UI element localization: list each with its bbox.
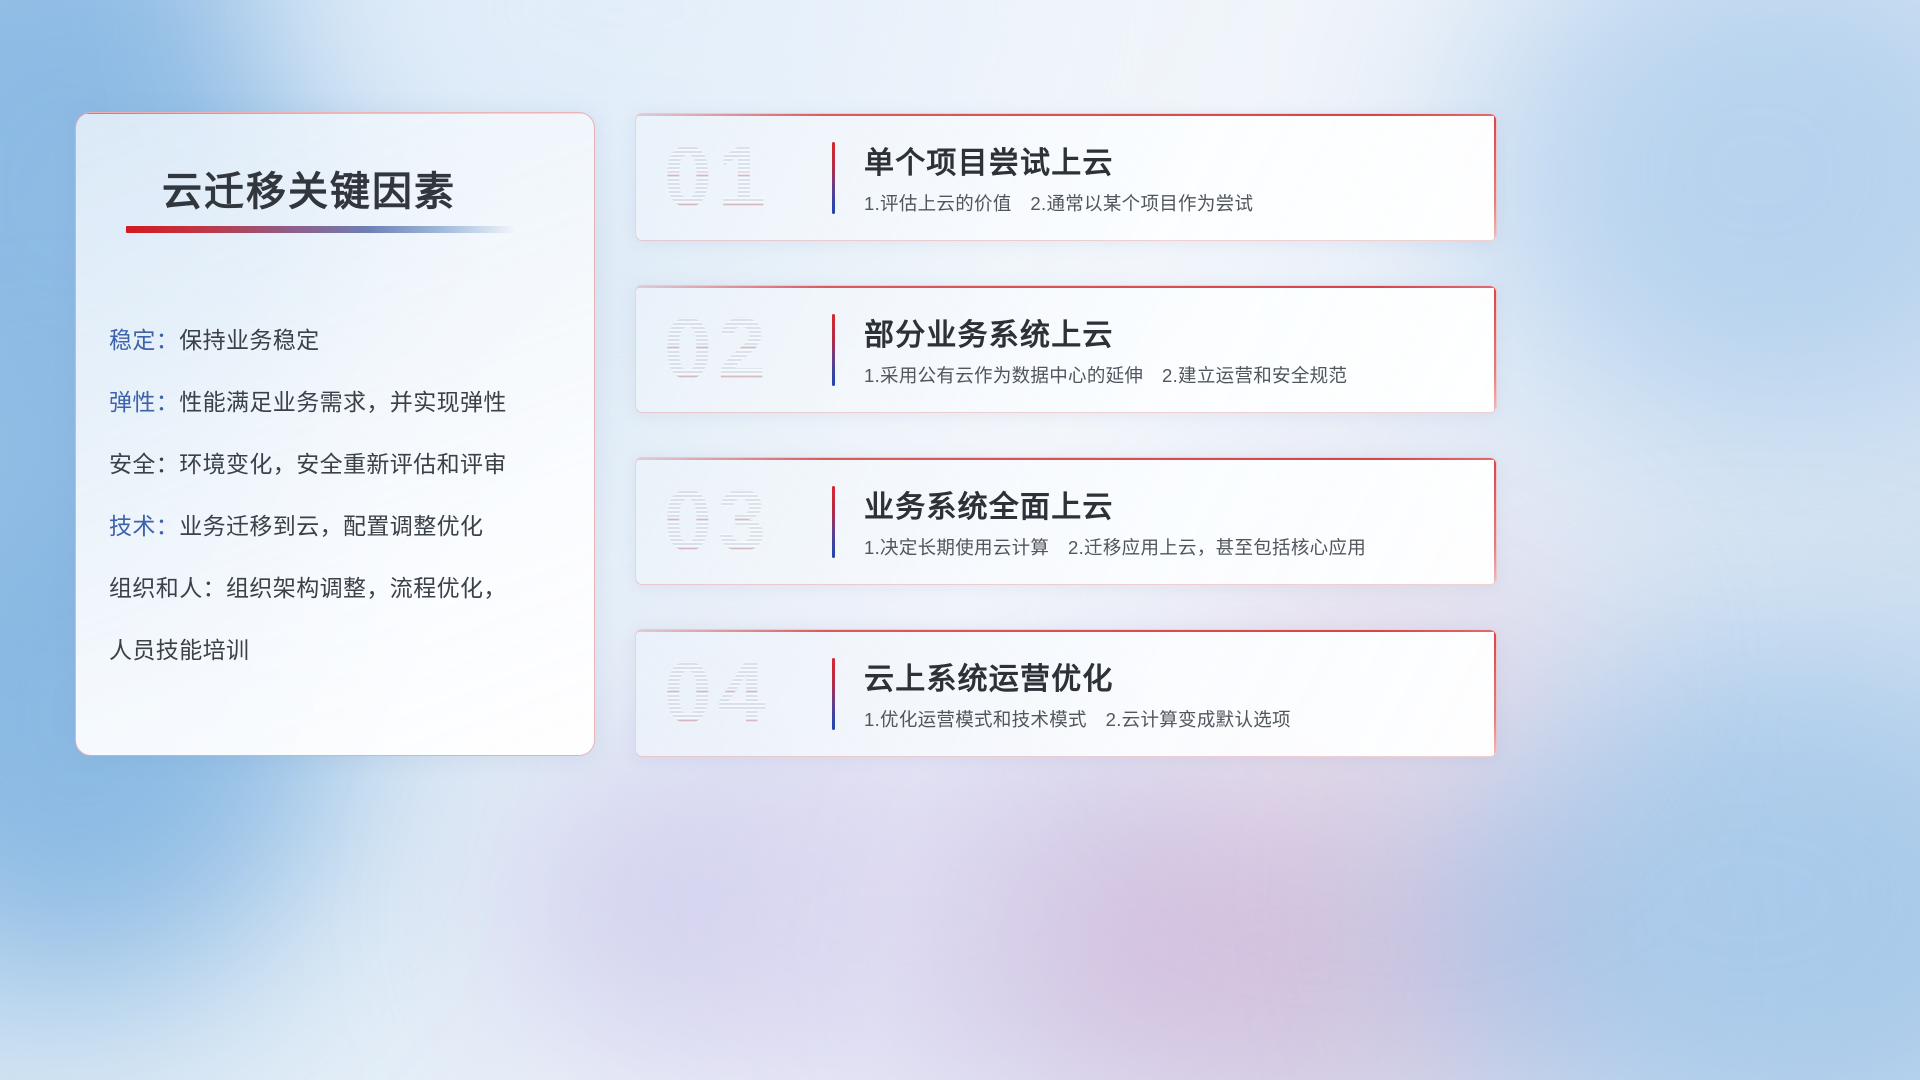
step-description: 1.决定长期使用云计算 2.迁移应用上云，甚至包括核心应用 [864, 534, 1366, 560]
key-factor-row: 人员技能培训 [109, 619, 579, 681]
step-title: 业务系统全面上云 [864, 482, 1114, 526]
step-title: 单个项目尝试上云 [864, 138, 1114, 182]
key-factor-value: 业务迁移到云，配置调整优化 [179, 513, 483, 539]
key-factors-list: 稳定：保持业务稳定弹性：性能满足业务需求，并实现弹性安全：环境变化，安全重新评估… [109, 309, 579, 681]
step-number-watermark: 01 [664, 131, 834, 223]
key-factor-label: 组织和人： [109, 575, 226, 601]
key-factor-row: 技术：业务迁移到云，配置调整优化 [109, 495, 579, 557]
step-description: 1.优化运营模式和技术模式 2.云计算变成默认选项 [864, 706, 1291, 732]
title-underline-rule [126, 226, 516, 233]
step-accent-divider [832, 658, 835, 730]
key-factor-label: 技术： [109, 513, 179, 539]
slide-stage: 云迁移关键因素 稳定：保持业务稳定弹性：性能满足业务需求，并实现弹性安全：环境变… [0, 0, 1920, 1080]
key-factor-label: 稳定： [109, 327, 179, 353]
key-factor-row: 安全：环境变化，安全重新评估和评审 [109, 433, 579, 495]
key-factor-row: 稳定：保持业务稳定 [109, 309, 579, 371]
step-card[interactable]: 040404云上系统运营优化1.优化运营模式和技术模式 2.云计算变成默认选项 [635, 629, 1497, 757]
cloud-migration-steps: 010101单个项目尝试上云1.评估上云的价值 2.通常以某个项目作为尝试020… [635, 113, 1497, 801]
key-factor-value: 人员技能培训 [109, 637, 249, 663]
step-accent-divider [832, 314, 835, 386]
key-factor-value: 环境变化，安全重新评估和评审 [179, 451, 507, 477]
key-factor-row: 组织和人：组织架构调整，流程优化， [109, 557, 579, 619]
key-factors-panel: 云迁移关键因素 稳定：保持业务稳定弹性：性能满足业务需求，并实现弹性安全：环境变… [75, 112, 595, 756]
key-factor-value: 组织架构调整，流程优化， [226, 575, 507, 601]
step-number-watermark: 04 [664, 647, 834, 739]
step-title: 云上系统运营优化 [864, 654, 1114, 698]
step-card[interactable]: 010101单个项目尝试上云1.评估上云的价值 2.通常以某个项目作为尝试 [635, 113, 1497, 241]
key-factor-label: 安全： [109, 451, 179, 477]
step-card[interactable]: 020202部分业务系统上云1.采用公有云作为数据中心的延伸 2.建立运营和安全… [635, 285, 1497, 413]
key-factor-value: 保持业务稳定 [179, 327, 319, 353]
step-number-watermark: 02 [664, 303, 834, 395]
step-accent-divider [832, 486, 835, 558]
key-factor-value: 性能满足业务需求，并实现弹性 [179, 389, 507, 415]
step-title: 部分业务系统上云 [864, 310, 1114, 354]
step-card[interactable]: 030303业务系统全面上云1.决定长期使用云计算 2.迁移应用上云，甚至包括核… [635, 457, 1497, 585]
key-factor-row: 弹性：性能满足业务需求，并实现弹性 [109, 371, 579, 433]
step-number-watermark: 03 [664, 475, 834, 567]
step-description: 1.评估上云的价值 2.通常以某个项目作为尝试 [864, 190, 1253, 216]
key-factor-label: 弹性： [109, 389, 179, 415]
page-title: 云迁移关键因素 [162, 159, 456, 217]
step-description: 1.采用公有云作为数据中心的延伸 2.建立运营和安全规范 [864, 362, 1347, 388]
step-accent-divider [832, 142, 835, 214]
